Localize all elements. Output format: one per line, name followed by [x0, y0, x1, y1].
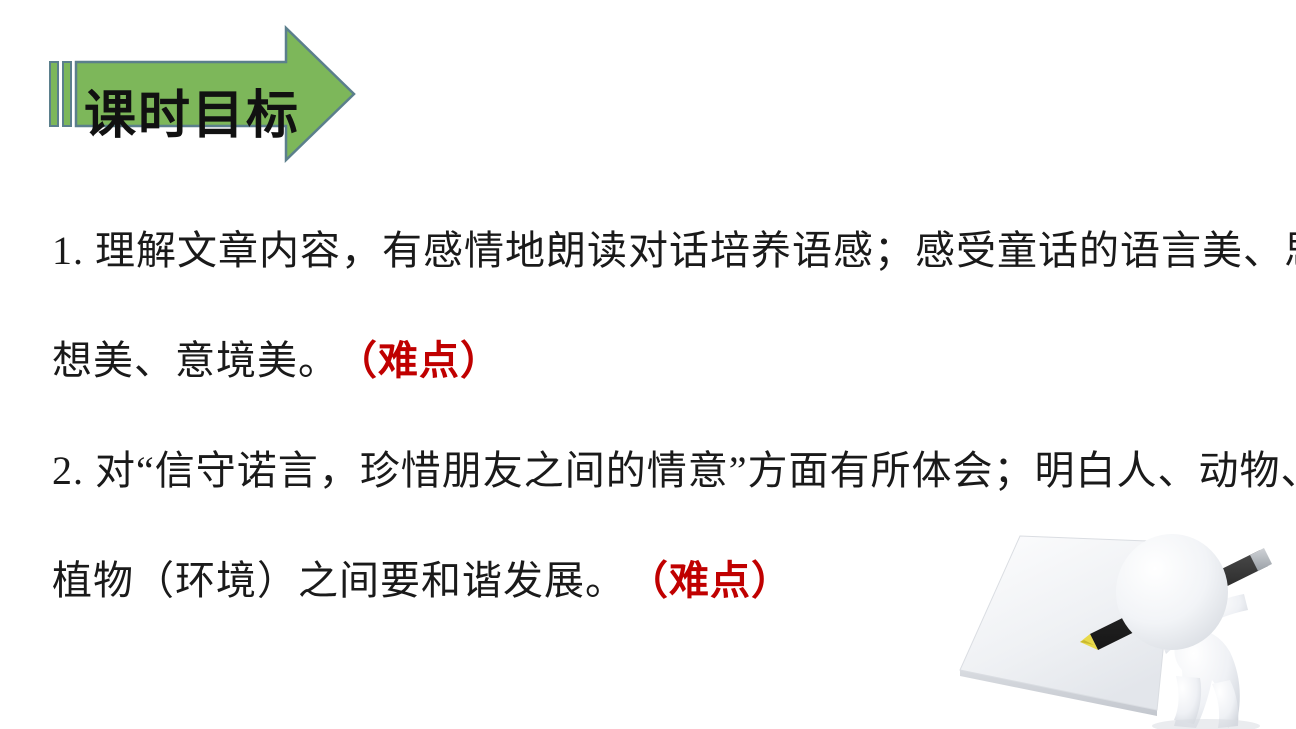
- figure-shadow: [1152, 719, 1260, 729]
- objective-2-difficulty-badge: （难点）: [648, 558, 792, 603]
- 3d-person-writing-illustration: [944, 514, 1296, 729]
- objective-1-line-2: 想美、意境美。（难点）: [52, 306, 1262, 416]
- title-banner: 课时目标: [48, 24, 368, 164]
- objective-2-line-1: 2. 对“信守诺言，珍惜朋友之间的情意”方面有所体会；明白人、动物、: [52, 416, 1262, 526]
- banner-accent-bar-1: [50, 62, 58, 126]
- banner-accent-bar-2: [63, 62, 71, 126]
- page-title: 课时目标: [84, 82, 334, 150]
- objective-2-text-a: 2. 对“信守诺言，珍惜朋友之间的情意”方面有所体会；明白人、动物、: [52, 448, 1296, 493]
- objective-1-text-a: 1. 理解文章内容，有感情地朗读对话培养语感；感受童话的语言美、思: [52, 228, 1296, 273]
- objective-1-text-b: 想美、意境美。: [52, 338, 339, 383]
- figure-head: [1116, 534, 1228, 650]
- objective-1-line-1: 1. 理解文章内容，有感情地朗读对话培养语感；感受童话的语言美、思: [52, 196, 1262, 306]
- objective-2-text-b: 植物（环境）之间要和谐发展。: [52, 558, 626, 603]
- objective-1-difficulty-badge: （难点）: [357, 338, 501, 383]
- 3d-person-writing-icon: [944, 514, 1296, 729]
